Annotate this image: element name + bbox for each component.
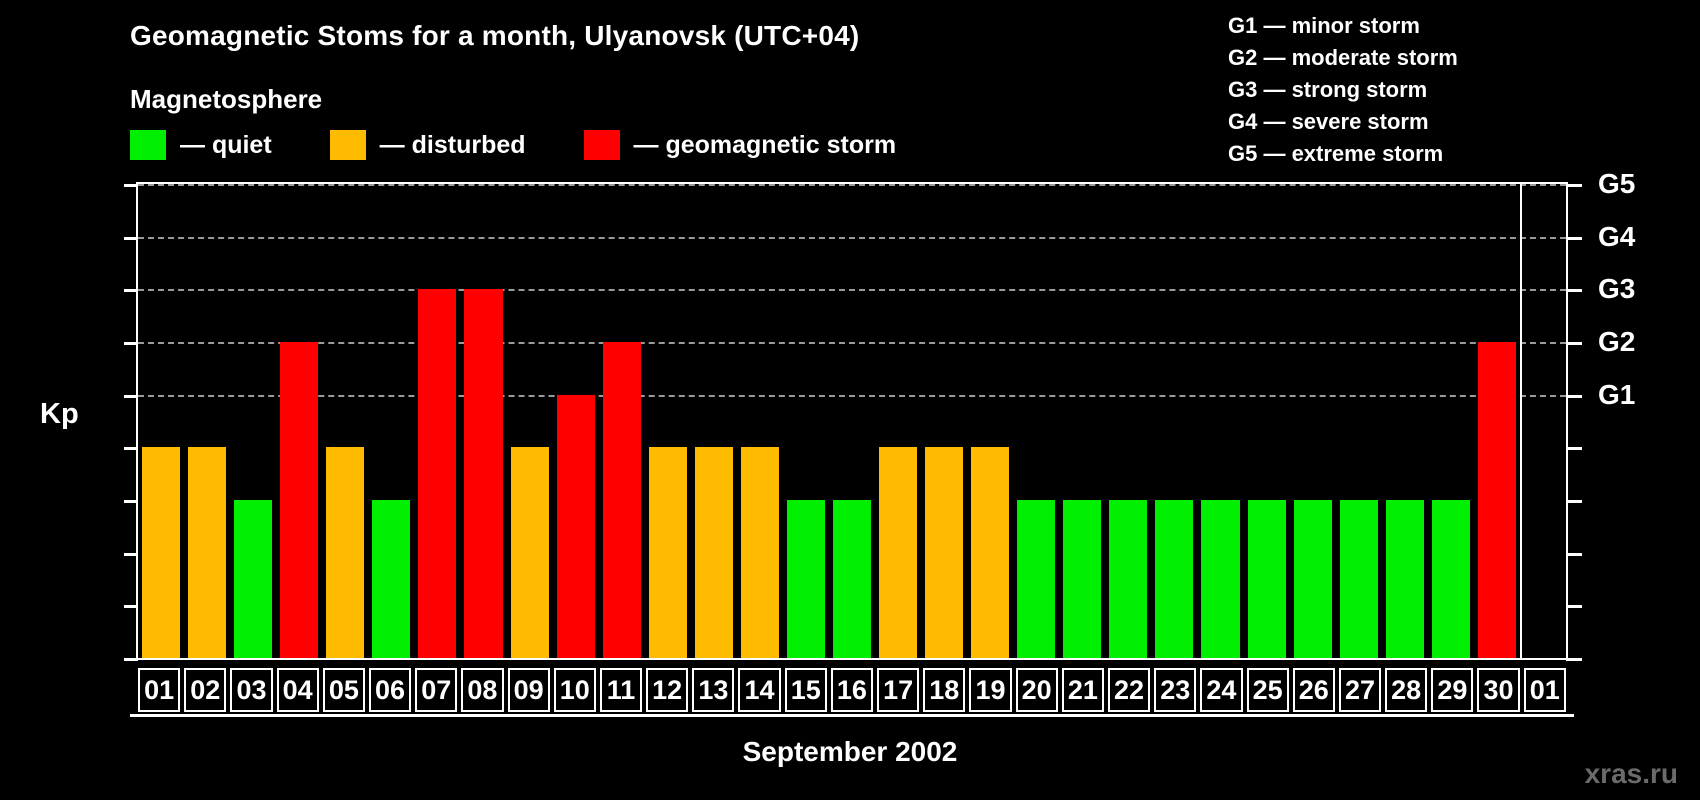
right-tick-label-G4: G4 (1598, 221, 1635, 253)
g-scale-row-4: G4 — severe storm (1228, 106, 1458, 138)
magnetosphere-label: Magnetosphere (130, 84, 322, 115)
bar-cell-day-14 (737, 184, 783, 658)
day-label-18: 19 (969, 668, 1011, 712)
bar-day-10-kp-5 (557, 395, 595, 658)
bar-day-01-kp-4 (142, 447, 180, 658)
day-label-29: 30 (1477, 668, 1519, 712)
right-tick-kp-4 (1566, 447, 1582, 450)
bar-day-24-kp-3 (1201, 500, 1239, 658)
legend-label: — quiet (180, 131, 272, 160)
x-axis-day-labels: 0102030405060708091011121314151617181920… (136, 668, 1568, 712)
bar-cell-day-26 (1290, 184, 1336, 658)
day-label-24: 25 (1247, 668, 1289, 712)
bar-day-06-kp-3 (372, 500, 410, 658)
bar-day-26-kp-3 (1294, 500, 1332, 658)
g-scale-row-2: G2 — moderate storm (1228, 42, 1458, 74)
right-tick-label-G2: G2 (1598, 326, 1635, 358)
right-tick-kp-2 (1566, 553, 1582, 556)
bar-cell-day-12 (645, 184, 691, 658)
day-label-19: 20 (1016, 668, 1058, 712)
bar-cell-day-09 (507, 184, 553, 658)
right-tick-kp-5 (1566, 395, 1582, 398)
y-tick-5 (124, 395, 138, 398)
legend-item-geomagnetic-storm: — geomagnetic storm (584, 130, 897, 160)
day-label-30: 01 (1524, 668, 1566, 712)
bar-cell-day-22 (1105, 184, 1151, 658)
day-label-9: 10 (554, 668, 596, 712)
bar-cell-day-04 (276, 184, 322, 658)
day-label-12: 13 (692, 668, 734, 712)
day-label-5: 06 (369, 668, 411, 712)
legend-label: — geomagnetic storm (634, 131, 897, 160)
y-tick-3 (124, 500, 138, 503)
bar-cell-day-23 (1151, 184, 1197, 658)
bar-cell-day-01 (138, 184, 184, 658)
y-tick-9 (124, 184, 138, 187)
bar-day-22-kp-3 (1109, 500, 1147, 658)
legend-item-disturbed: — disturbed (330, 130, 526, 160)
bar-cell-day-24 (1197, 184, 1243, 658)
day-label-20: 21 (1062, 668, 1104, 712)
bar-day-17-kp-4 (879, 447, 917, 658)
g-scale-legend: G1 — minor stormG2 — moderate stormG3 — … (1228, 10, 1458, 170)
day-label-28: 29 (1431, 668, 1473, 712)
bar-day-05-kp-4 (326, 447, 364, 658)
bar-cell-day-13 (691, 184, 737, 658)
day-label-13: 14 (738, 668, 780, 712)
g-scale-row-3: G3 — strong storm (1228, 74, 1458, 106)
bar-cell-day-30 (1474, 184, 1520, 658)
bar-cell-day-02 (184, 184, 230, 658)
day-label-4: 05 (323, 668, 365, 712)
right-tick-kp-6 (1566, 342, 1582, 345)
bar-cell-day-21 (1059, 184, 1105, 658)
bar-day-23-kp-3 (1155, 500, 1193, 658)
bar-day-16-kp-3 (833, 500, 871, 658)
bar-cell-day-29 (1428, 184, 1474, 658)
y-tick-7 (124, 289, 138, 292)
right-tick-kp-8 (1566, 237, 1582, 240)
y-tick-0 (124, 658, 138, 661)
day-label-22: 23 (1154, 668, 1196, 712)
bar-day-07-kp-7 (418, 289, 456, 658)
day-label-27: 28 (1385, 668, 1427, 712)
right-tick-kp-3 (1566, 500, 1582, 503)
day-label-21: 22 (1108, 668, 1150, 712)
right-tick-label-G3: G3 (1598, 273, 1635, 305)
right-tick-kp-7 (1566, 289, 1582, 292)
month-divider (1520, 184, 1522, 658)
chart-title: Geomagnetic Stoms for a month, Ulyanovsk… (130, 20, 859, 52)
legend-item-quiet: — quiet (130, 130, 272, 160)
bar-day-08-kp-7 (464, 289, 502, 658)
bar-cell-day-28 (1382, 184, 1428, 658)
day-label-16: 17 (877, 668, 919, 712)
day-label-11: 12 (646, 668, 688, 712)
y-tick-6 (124, 342, 138, 345)
bar-day-03-kp-3 (234, 500, 272, 658)
bar-day-14-kp-4 (741, 447, 779, 658)
watermark: xras.ru (1585, 758, 1678, 790)
y-tick-2 (124, 553, 138, 556)
bar-cell-day-07 (414, 184, 460, 658)
x-axis-rule (130, 714, 1574, 717)
bar-cell-day-20 (1013, 184, 1059, 658)
bar-day-20-kp-3 (1017, 500, 1055, 658)
day-label-10: 11 (600, 668, 642, 712)
bar-cell-day-01 (1520, 184, 1566, 658)
day-label-3: 04 (277, 668, 319, 712)
bar-cell-day-17 (875, 184, 921, 658)
y-tick-8 (124, 237, 138, 240)
g-scale-row-5: G5 — extreme storm (1228, 138, 1458, 170)
legend: — quiet— disturbed— geomagnetic storm (130, 130, 954, 160)
day-label-26: 27 (1339, 668, 1381, 712)
day-label-8: 09 (508, 668, 550, 712)
bar-day-30-kp-6 (1478, 342, 1516, 658)
bar-day-09-kp-4 (511, 447, 549, 658)
bar-day-27-kp-3 (1340, 500, 1378, 658)
legend-swatch-disturbed-icon (330, 130, 366, 160)
bar-cell-day-25 (1244, 184, 1290, 658)
x-axis-title: September 2002 (0, 736, 1700, 768)
bar-cell-day-10 (553, 184, 599, 658)
right-tick-kp-1 (1566, 605, 1582, 608)
bar-cell-day-27 (1336, 184, 1382, 658)
bar-day-29-kp-3 (1432, 500, 1470, 658)
day-label-7: 08 (461, 668, 503, 712)
right-tick-label-G5: G5 (1598, 168, 1635, 200)
bar-cell-day-16 (829, 184, 875, 658)
bar-cell-day-18 (921, 184, 967, 658)
legend-label: — disturbed (380, 131, 526, 160)
right-tick-label-G1: G1 (1598, 379, 1635, 411)
bar-day-13-kp-4 (695, 447, 733, 658)
bar-series (138, 184, 1566, 658)
right-tick-kp-9 (1566, 184, 1582, 187)
g-scale-row-1: G1 — minor storm (1228, 10, 1458, 42)
legend-swatch-geomagnetic-storm-icon (584, 130, 620, 160)
plot-area: 0123456789G1G2G3G4G5 (136, 182, 1568, 660)
day-label-23: 24 (1200, 668, 1242, 712)
day-label-2: 03 (230, 668, 272, 712)
day-label-6: 07 (415, 668, 457, 712)
bar-cell-day-03 (230, 184, 276, 658)
day-label-17: 18 (923, 668, 965, 712)
bar-cell-day-11 (599, 184, 645, 658)
y-axis-title: Kp (40, 398, 79, 431)
day-label-14: 15 (785, 668, 827, 712)
y-tick-1 (124, 605, 138, 608)
bar-cell-day-08 (460, 184, 506, 658)
day-label-25: 26 (1293, 668, 1335, 712)
bar-day-04-kp-6 (280, 342, 318, 658)
legend-swatch-quiet-icon (130, 130, 166, 160)
right-tick-kp-0 (1566, 658, 1582, 661)
bar-day-18-kp-4 (925, 447, 963, 658)
day-label-0: 01 (138, 668, 180, 712)
bar-cell-day-06 (368, 184, 414, 658)
bar-day-15-kp-3 (787, 500, 825, 658)
bar-cell-day-05 (322, 184, 368, 658)
bar-day-21-kp-3 (1063, 500, 1101, 658)
bar-day-28-kp-3 (1386, 500, 1424, 658)
bar-cell-day-15 (783, 184, 829, 658)
day-label-1: 02 (184, 668, 226, 712)
bar-day-11-kp-6 (603, 342, 641, 658)
bar-day-19-kp-4 (971, 447, 1009, 658)
bar-day-02-kp-4 (188, 447, 226, 658)
bar-cell-day-19 (967, 184, 1013, 658)
bar-day-12-kp-4 (649, 447, 687, 658)
y-tick-4 (124, 447, 138, 450)
day-label-15: 16 (831, 668, 873, 712)
bar-day-25-kp-3 (1248, 500, 1286, 658)
